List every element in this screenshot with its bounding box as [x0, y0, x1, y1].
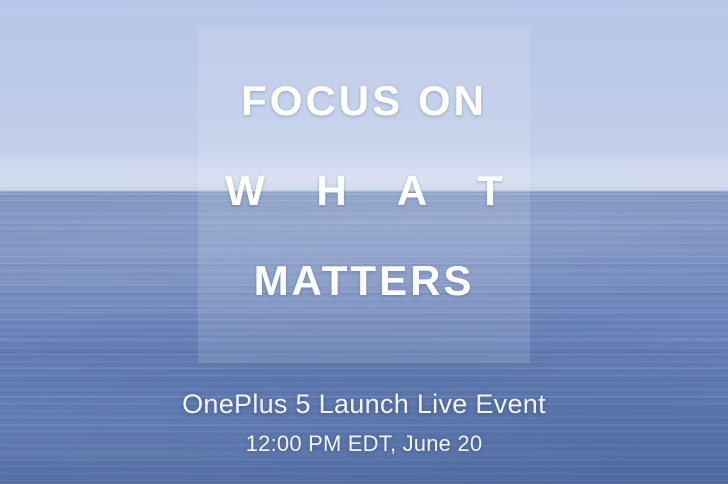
headline-line-3: MATTERS — [0, 258, 728, 304]
teaser-image: FOCUS ON W H A T MATTERS OnePlus 5 Launc… — [0, 0, 728, 484]
event-title: OnePlus 5 Launch Live Event — [0, 388, 728, 420]
event-schedule: 12:00 PM EDT, June 20 — [0, 430, 728, 458]
headline-line-1: FOCUS ON — [0, 78, 728, 124]
text-overlay: FOCUS ON W H A T MATTERS OnePlus 5 Launc… — [0, 0, 728, 484]
headline-line-2: W H A T — [0, 168, 728, 214]
